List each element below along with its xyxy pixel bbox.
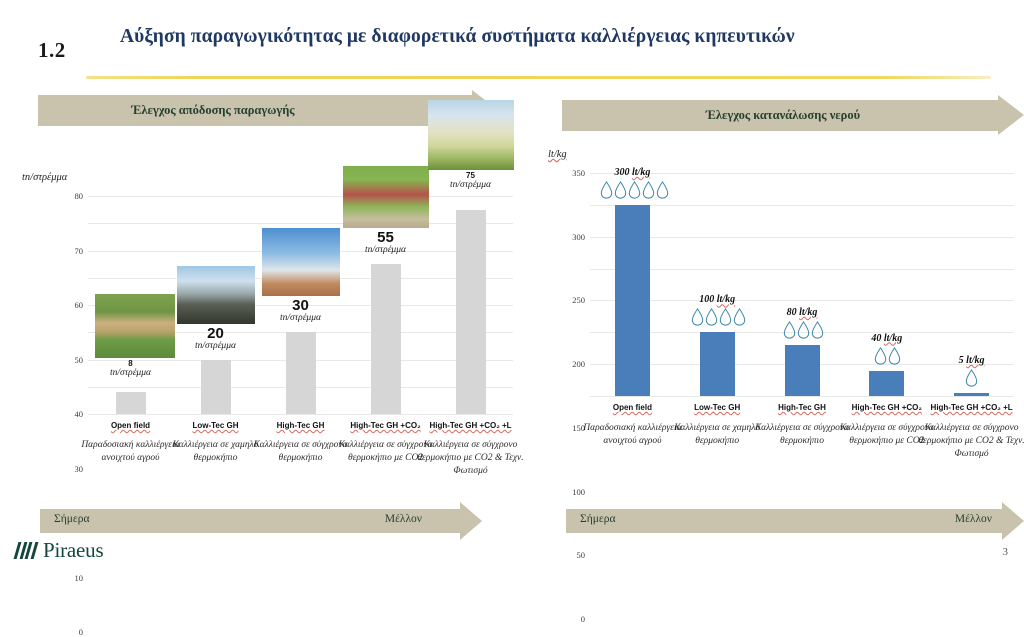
y-axis-tick: 100 <box>572 487 585 497</box>
y-axis-tick: 50 <box>75 355 84 365</box>
water-droplet-icon <box>719 308 732 326</box>
value-label-water-0: 300 lt/kg <box>582 167 682 178</box>
water-droplet-icon <box>783 321 796 339</box>
y-axis-tick: 0 <box>79 627 83 637</box>
bar-water-1 <box>700 332 735 396</box>
value-unit: lt/kg <box>966 355 984 366</box>
bar-yield-1 <box>201 360 231 415</box>
y-axis-tick: 250 <box>572 295 585 305</box>
water-droplet-icon <box>965 369 978 387</box>
droplet-group-0 <box>600 181 669 199</box>
category-code: High-Tec GH +CO₂ <box>852 403 922 412</box>
banner-water-control: Έλεγχος κατανάλωσης νερού <box>562 100 1024 131</box>
droplet-group-1 <box>691 308 746 326</box>
bar-yield-2 <box>286 332 316 414</box>
water-droplet-icon <box>642 181 655 199</box>
thumbnail-high-tech-greenhouse-exterior <box>262 228 340 296</box>
water-droplet-icon <box>614 181 627 199</box>
timeline-left-start: Σήμερα <box>54 513 89 525</box>
gridline: 200 <box>590 269 1014 270</box>
chart-water: lt/kg 050100150200250300350300 lt/kgOpen… <box>548 145 1024 405</box>
category-desc-yield-4: Καλλιέργεια σε σύγχρονο θερμοκήπιο με CO… <box>416 439 526 477</box>
value-unit: lt/kg <box>884 333 902 344</box>
y-axis-tick: 10 <box>75 573 84 583</box>
bar-water-2 <box>785 345 820 396</box>
timeline-body <box>566 509 1002 533</box>
bar-water-4 <box>954 393 989 396</box>
slide-number: 1.2 <box>38 38 66 63</box>
y-axis-tick: 30 <box>75 464 84 474</box>
value-unit-yield-1: tn/στρέμμα <box>171 341 261 351</box>
thumbnail-high-tech-greenhouse-with-lighting <box>428 100 514 170</box>
gridline: 250 <box>590 237 1014 238</box>
value-label-water-3: 40 lt/kg <box>837 333 937 344</box>
bar-yield-4 <box>456 210 486 414</box>
timeline-arrow-head <box>1002 502 1024 540</box>
thumbnail-low-tech-greenhouse <box>177 266 255 324</box>
y-axis-tick: 300 <box>572 232 585 242</box>
water-droplet-icon <box>600 181 613 199</box>
droplet-group-3 <box>874 347 901 365</box>
y-axis-tick: 50 <box>577 550 586 560</box>
value-label-water-1: 100 lt/kg <box>667 294 767 305</box>
bar-water-3 <box>869 371 904 396</box>
bar-yield-3 <box>371 264 401 414</box>
page-number: 3 <box>1003 546 1009 558</box>
timeline-right-end: Μέλλον <box>955 513 992 525</box>
value-unit-yield-3: tn/στρέμμα <box>341 245 431 255</box>
title-underline-rule <box>86 76 991 79</box>
piraeus-logo: Piraeus <box>16 538 103 563</box>
water-axis-unit: lt/kg <box>548 149 567 160</box>
category-code: High-Tec GH <box>277 421 325 430</box>
water-droplet-icon <box>888 347 901 365</box>
value-label-water-2: 80 lt/kg <box>752 307 852 318</box>
gridline: 300 <box>590 205 1014 206</box>
slide: 1.2 Αύξηση παραγωγικότητας με διαφορετικ… <box>0 0 1024 571</box>
water-droplet-icon <box>705 308 718 326</box>
value-label-yield-0: 8 <box>91 359 171 368</box>
category-code: Low-Tec GH <box>192 421 238 430</box>
value-label-water-4: 5 lt/kg <box>922 355 1022 366</box>
gridline: 150 <box>590 300 1014 301</box>
banner-arrow-head <box>998 95 1024 135</box>
droplet-group-4 <box>965 369 978 387</box>
value-label-yield-4: 75 <box>431 171 511 180</box>
value-unit-yield-0: tn/στρέμμα <box>86 368 176 378</box>
category-label-water-4: High-Tec GH +CO₂ +L <box>920 404 1024 413</box>
water-droplet-icon <box>811 321 824 339</box>
y-axis-tick: 80 <box>75 191 84 201</box>
category-code: High-Tec GH <box>778 403 826 412</box>
value-label-yield-1: 20 <box>176 325 256 342</box>
value-unit: lt/kg <box>799 307 817 318</box>
water-plot-area: 050100150200250300350300 lt/kgOpen field… <box>590 173 1014 396</box>
y-axis-tick: 200 <box>572 359 585 369</box>
gridline: 70 <box>88 223 513 224</box>
droplet-group-2 <box>783 321 824 339</box>
water-droplet-icon <box>874 347 887 365</box>
water-droplet-icon <box>733 308 746 326</box>
value-label-yield-2: 30 <box>261 297 341 314</box>
timeline-right-start: Σήμερα <box>580 513 615 525</box>
category-code: High-Tec GH +CO₂ +L <box>429 421 511 430</box>
gridline: 0 <box>590 396 1014 397</box>
value-label-yield-3: 55 <box>346 229 426 246</box>
y-axis-tick: 40 <box>75 409 84 419</box>
yield-plot-area: 010203040506070808tn/στρέμμαOpen fieldΠα… <box>88 196 513 414</box>
banner-right-label: Έλεγχος κατανάλωσης νερού <box>706 108 860 123</box>
category-desc-water-4: Καλλιέργεια σε σύγχρονο θερμοκήπιο με CO… <box>917 422 1024 460</box>
timeline-arrow-head <box>460 502 482 540</box>
category-label-yield-4: High-Tec GH +CO₂ +L <box>419 422 523 431</box>
water-droplet-icon <box>628 181 641 199</box>
value-unit-yield-2: tn/στρέμμα <box>256 313 346 323</box>
yield-axis-unit: tn/στρέμμα <box>22 172 67 183</box>
banner-left-label: Έλεγχος απόδοσης παραγωγής <box>131 103 294 118</box>
gridline: 80 <box>88 196 513 197</box>
water-droplet-icon <box>691 308 704 326</box>
timeline-arrow-right: Σήμερα Μέλλον <box>566 509 1024 533</box>
thumbnail-open-field-tomato-rows <box>95 294 175 358</box>
gridline: 0 <box>88 414 513 415</box>
category-code: Low-Tec GH <box>694 403 740 412</box>
value-unit-yield-4: tn/στρέμμα <box>426 180 516 190</box>
value-unit: lt/kg <box>632 167 650 178</box>
category-code: High-Tec GH +CO₂ +L <box>931 403 1013 412</box>
value-unit: lt/kg <box>717 294 735 305</box>
category-code: Open field <box>613 403 652 412</box>
category-code: Open field <box>111 421 150 430</box>
logo-slashes-icon <box>16 542 38 559</box>
chart-yield: tn/στρέμμα 010203040506070808tn/στρέμμαO… <box>30 160 520 420</box>
bar-water-0 <box>615 205 650 396</box>
logo-wordmark: Piraeus <box>43 538 103 563</box>
category-code: High-Tec GH +CO₂ <box>350 421 420 430</box>
water-droplet-icon <box>656 181 669 199</box>
water-droplet-icon <box>797 321 810 339</box>
bar-yield-0 <box>116 392 146 414</box>
thumbnail-high-tech-greenhouse-tomato-rows <box>343 166 429 228</box>
y-axis-tick: 70 <box>75 246 84 256</box>
page-title: Αύξηση παραγωγικότητας με διαφορετικά συ… <box>120 26 1000 48</box>
y-axis-tick: 0 <box>581 614 585 624</box>
timeline-arrow-left: Σήμερα Μέλλον <box>40 509 482 533</box>
y-axis-tick: 60 <box>75 300 84 310</box>
timeline-left-end: Μέλλον <box>385 513 422 525</box>
